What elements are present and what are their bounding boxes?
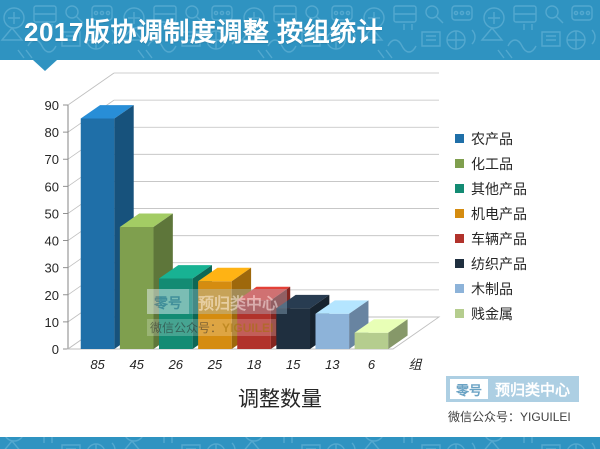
watermark-corner-logo: 零号 预归类中心	[446, 376, 579, 402]
legend-item[interactable]: 贱金属	[455, 301, 595, 326]
y-axis-tick-label: 40	[45, 234, 59, 249]
legend-item[interactable]: 其他产品	[455, 176, 595, 201]
chart-bar-front-face	[315, 314, 349, 349]
x-axis-category-label: 15	[286, 357, 301, 372]
legend-item[interactable]: 化工品	[455, 151, 595, 176]
watermark-corner-logo-main-text: 预归类中心	[495, 379, 570, 400]
watermark-center-logo-box: 零号	[147, 289, 189, 314]
watermark-center-subtitle: 微信公众号：YIGUILEI	[147, 319, 276, 336]
legend-item-label: 其他产品	[471, 179, 527, 199]
header-band: 2017版协调制度调整 按组统计	[0, 0, 600, 60]
y-axis-tick-label: 20	[45, 288, 59, 303]
legend-item[interactable]: 木制品	[455, 276, 595, 301]
legend-item[interactable]: 农产品	[455, 126, 595, 151]
y-axis-tick-label: 80	[45, 125, 59, 140]
legend-swatch-icon	[455, 309, 464, 318]
legend-swatch-icon	[455, 284, 464, 293]
axis-corner-label: 组	[408, 357, 422, 372]
legend-swatch-icon	[455, 159, 464, 168]
x-axis-category-label: 13	[325, 357, 340, 372]
watermark-corner-logo-box: 零号	[450, 379, 488, 399]
x-axis-category-label: 25	[207, 357, 223, 372]
legend-item-label: 贱金属	[471, 304, 513, 324]
watermark-corner-logo-box-text: 零号	[456, 380, 482, 399]
x-axis-title: 调整数量	[150, 383, 410, 413]
watermark-center-logo-box-text: 零号	[154, 293, 182, 313]
y-axis-tick-label: 10	[45, 315, 59, 330]
watermark-corner-logo-main: 预归类中心	[488, 376, 579, 402]
watermark-corner-subtitle: 微信公众号：YIGUILEI	[446, 408, 579, 425]
legend-swatch-icon	[455, 209, 464, 218]
chart-legend: 农产品化工品其他产品机电产品车辆产品纺织产品木制品贱金属	[455, 126, 595, 326]
chart-bar-front-face	[81, 119, 115, 349]
page-title: 2017版协调制度调整 按组统计	[24, 12, 383, 49]
watermark-corner-sub-account: YIGUILEI	[520, 410, 571, 424]
legend-swatch-icon	[455, 184, 464, 193]
watermark-center-sub-account: YIGUILEI	[222, 321, 273, 335]
x-axis-category-label: 26	[168, 357, 184, 372]
watermark-corner-sub-prefix: 微信公众号：	[448, 410, 520, 424]
legend-swatch-icon	[455, 234, 464, 243]
watermark-center-sub-prefix: 微信公众号：	[150, 321, 222, 335]
footer-decorative-pattern	[0, 437, 600, 449]
x-axis-category-label: 18	[247, 357, 262, 372]
footer-band	[0, 437, 600, 449]
chart-depth-gridline	[68, 73, 114, 105]
legend-item-label: 纺织产品	[471, 254, 527, 274]
legend-item-label: 木制品	[471, 279, 513, 299]
y-axis-tick-label: 60	[45, 179, 59, 194]
y-axis-tick-label: 90	[45, 98, 59, 113]
y-axis-tick-label: 30	[45, 261, 59, 276]
y-axis-tick-label: 50	[45, 206, 59, 221]
legend-item-label: 车辆产品	[471, 229, 527, 249]
watermark-center: 零号 预归类中心 微信公众号：YIGUILEI	[147, 289, 287, 337]
chart-bar-front-face	[355, 333, 389, 349]
header-pointer-triangle	[33, 60, 57, 71]
legend-swatch-icon	[455, 134, 464, 143]
y-axis-tick-label: 0	[52, 342, 59, 357]
x-axis-category-label: 45	[129, 357, 144, 372]
legend-item-label: 化工品	[471, 154, 513, 174]
watermark-center-logo-main: 预归类中心	[189, 289, 287, 314]
legend-item[interactable]: 纺织产品	[455, 251, 595, 276]
legend-item-label: 农产品	[471, 129, 513, 149]
x-axis-category-label: 6	[368, 357, 376, 372]
legend-item[interactable]: 机电产品	[455, 201, 595, 226]
watermark-corner: 零号 预归类中心 微信公众号：YIGUILEI	[446, 376, 579, 425]
slide-canvas: 2017版协调制度调整 按组统计 01020304050607080908545…	[0, 0, 600, 449]
watermark-center-logo: 零号 预归类中心	[147, 289, 287, 314]
watermark-center-logo-main-text: 预归类中心	[198, 290, 278, 314]
y-axis-tick-label: 70	[45, 152, 59, 167]
x-axis-category-label: 85	[90, 357, 105, 372]
legend-swatch-icon	[455, 259, 464, 268]
legend-item-label: 机电产品	[471, 204, 527, 224]
legend-item[interactable]: 车辆产品	[455, 226, 595, 251]
